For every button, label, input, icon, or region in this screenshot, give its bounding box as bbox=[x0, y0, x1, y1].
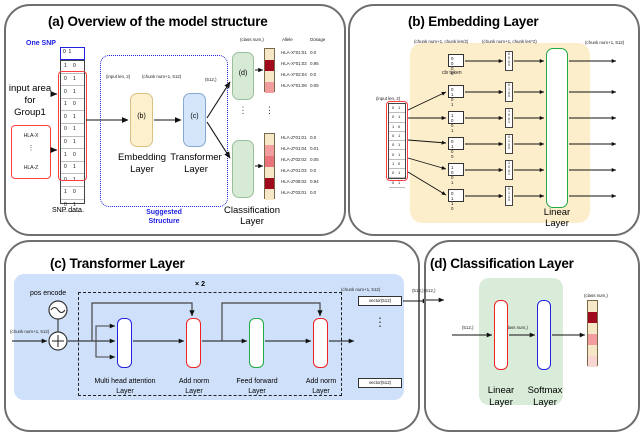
figure-root: (a) Overview of the model structure One … bbox=[0, 0, 640, 432]
panel-d-arrows bbox=[0, 0, 640, 432]
